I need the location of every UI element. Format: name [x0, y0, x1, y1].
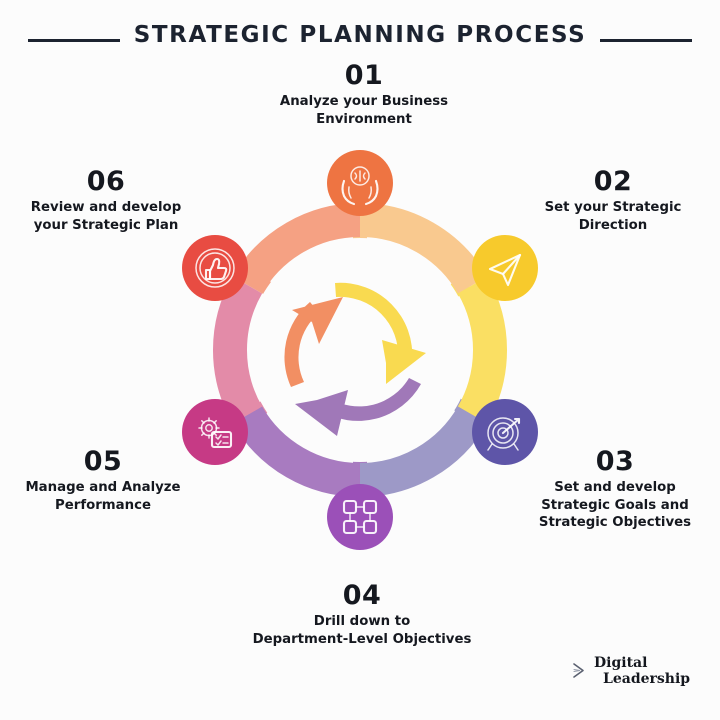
step-03-label: Set and develop Strategic Goals and Stra…	[520, 479, 710, 532]
step-06-label-line2: your Strategic Plan	[34, 218, 179, 233]
step-06-number: 06	[12, 168, 200, 196]
step-04-label-line2: Department-Level Objectives	[253, 632, 472, 647]
step-04-number: 04	[228, 582, 496, 610]
step-01-label-line1: Analyze your Business	[280, 94, 448, 109]
step-01-node[interactable]	[327, 150, 393, 216]
step-03-label-line3: Strategic Objectives	[539, 515, 691, 530]
step-03-text: 03 Set and develop Strategic Goals and S…	[520, 448, 710, 532]
step-06-node[interactable]	[182, 235, 248, 301]
step-02-label: Set your Strategic Direction	[520, 199, 706, 234]
step-05-number: 05	[10, 448, 196, 476]
step-02-label-line2: Direction	[579, 218, 648, 233]
step-03-label-line2: Strategic Goals and	[541, 498, 689, 513]
step-01-text: 01 Analyze your Business Environment	[258, 62, 470, 128]
step-01-label: Analyze your Business Environment	[258, 93, 470, 128]
step-05-label: Manage and Analyze Performance	[10, 479, 196, 514]
ring-inner-disc	[248, 238, 472, 462]
title-rule-right	[600, 39, 692, 42]
cycle-diagram: .ico { fill:none; stroke:#fff; stroke-wi…	[160, 150, 560, 550]
step-06-label: Review and develop your Strategic Plan	[12, 199, 200, 234]
step-02-text: 02 Set your Strategic Direction	[520, 168, 706, 234]
page-title: STRATEGIC PLANNING PROCESS	[0, 22, 720, 48]
step-02-number: 02	[520, 168, 706, 196]
step-04-label: Drill down to Department-Level Objective…	[228, 613, 496, 648]
brand-line-1: Digital	[594, 655, 647, 671]
step-02-node[interactable]	[472, 235, 538, 301]
step-03-label-line1: Set and develop	[554, 480, 676, 495]
step-01-number: 01	[258, 62, 470, 90]
title-text: STRATEGIC PLANNING PROCESS	[134, 22, 587, 48]
step-04-label-line1: Drill down to	[314, 614, 410, 629]
title-rule-left	[28, 39, 120, 42]
step-05-label-line1: Manage and Analyze	[25, 480, 180, 495]
step-06-label-line1: Review and develop	[31, 200, 181, 215]
step-04-text: 04 Drill down to Department-Level Object…	[228, 582, 496, 648]
step-04-node[interactable]	[327, 484, 393, 550]
chevron-right-icon	[572, 662, 587, 682]
infographic-canvas: STRATEGIC PLANNING PROCESS .ico { fill:n…	[0, 0, 720, 720]
brand-wordmark: Digital Leadership	[594, 656, 690, 687]
step-01-label-line2: Environment	[316, 112, 412, 127]
step-06-text: 06 Review and develop your Strategic Pla…	[12, 168, 200, 234]
brand-line-2: Leadership	[594, 672, 690, 688]
step-05-text: 05 Manage and Analyze Performance	[10, 448, 196, 514]
step-03-number: 03	[520, 448, 710, 476]
step-02-label-line1: Set your Strategic	[545, 200, 682, 215]
step-05-label-line2: Performance	[55, 498, 151, 513]
brand-logo[interactable]: Digital Leadership	[572, 656, 690, 687]
